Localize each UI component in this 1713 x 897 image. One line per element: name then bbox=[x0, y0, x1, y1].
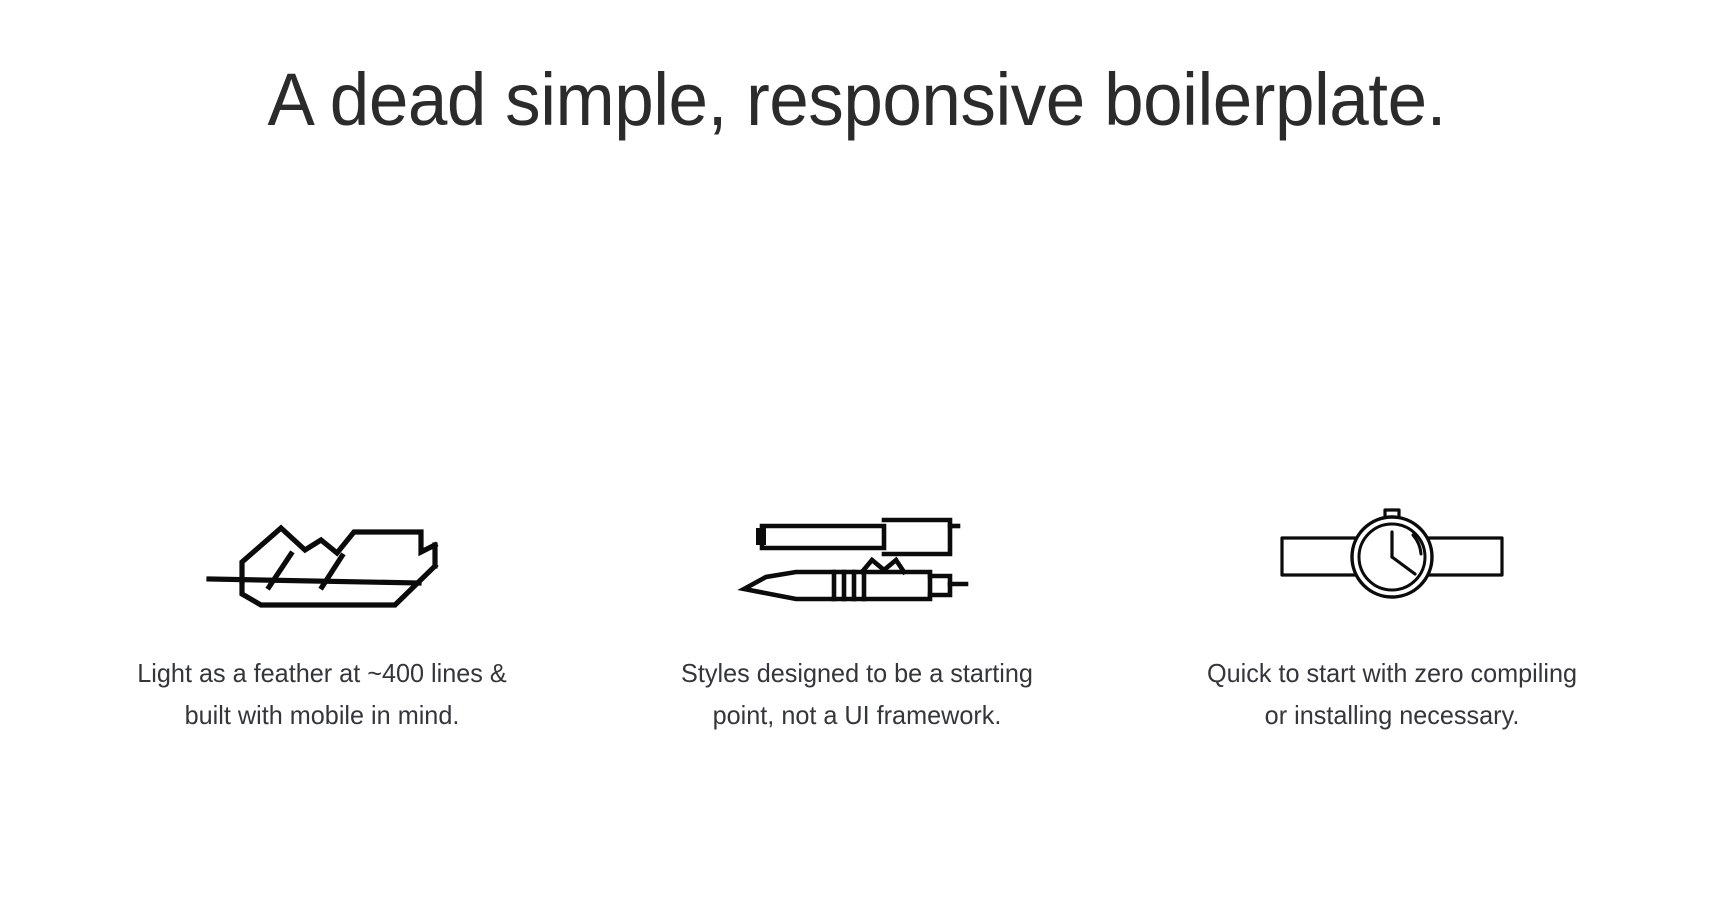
feature-item-styles: Styles designed to be a starting point, … bbox=[589, 498, 1124, 736]
feature-caption: Styles designed to be a starting point, … bbox=[638, 652, 1075, 736]
feature-caption: Quick to start with zero compiling or in… bbox=[1173, 652, 1610, 736]
wristwatch-icon bbox=[1272, 498, 1512, 614]
feature-caption-line1: Light as a feather at ~400 lines & bbox=[103, 652, 540, 694]
feather-icon bbox=[202, 498, 442, 614]
feature-row: Light as a feather at ~400 lines & built… bbox=[0, 498, 1713, 736]
feature-item-quickstart: Quick to start with zero compiling or in… bbox=[1124, 498, 1659, 736]
feature-caption-line2: or installing necessary. bbox=[1173, 694, 1610, 736]
landing-page: A dead simple, responsive boilerplate. bbox=[0, 0, 1713, 897]
feature-item-lightweight: Light as a feather at ~400 lines & built… bbox=[54, 498, 589, 736]
feature-caption-line2: built with mobile in mind. bbox=[103, 694, 540, 736]
feature-caption-line1: Styles designed to be a starting bbox=[638, 652, 1075, 694]
feature-caption-line1: Quick to start with zero compiling bbox=[1173, 652, 1610, 694]
pens-icon bbox=[737, 498, 977, 614]
feature-caption-line2: point, not a UI framework. bbox=[638, 694, 1075, 736]
hero-section: A dead simple, responsive boilerplate. bbox=[0, 0, 1713, 200]
page-title: A dead simple, responsive boilerplate. bbox=[267, 59, 1445, 142]
feature-caption: Light as a feather at ~400 lines & built… bbox=[103, 652, 540, 736]
